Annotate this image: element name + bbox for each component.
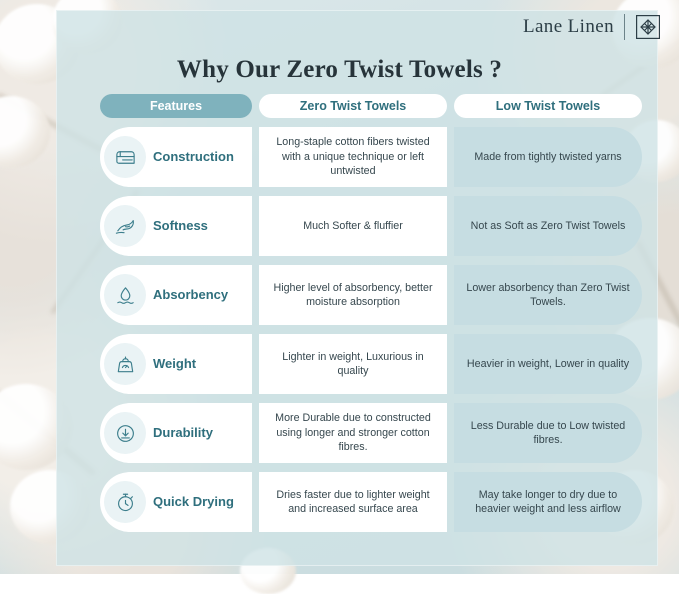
cotton-boll (0, 96, 50, 168)
low-twist-cell: May take longer to dry due to heavier we… (454, 472, 642, 532)
header-zero-twist: Zero Twist Towels (259, 94, 447, 118)
feature-cell: Durability (100, 403, 252, 463)
table-row: Softness Much Softer & fluffier Not as S… (100, 196, 645, 256)
zero-twist-cell: More Durable due to constructed using lo… (259, 403, 447, 463)
stopwatch-drop-icon (104, 481, 146, 523)
feature-label: Construction (153, 150, 234, 165)
low-twist-cell: Less Durable due to Low twisted fibres. (454, 403, 642, 463)
feature-cell: Softness (100, 196, 252, 256)
feature-label: Durability (153, 426, 213, 441)
table-row: Durability More Durable due to construct… (100, 403, 645, 463)
feature-label: Absorbency (153, 288, 228, 303)
zero-twist-cell: Long-staple cotton fibers twisted with a… (259, 127, 447, 187)
feature-cell: Quick Drying (100, 472, 252, 532)
water-drop-absorb-icon (104, 274, 146, 316)
low-twist-cell: Not as Soft as Zero Twist Towels (454, 196, 642, 256)
table-row: Construction Long-staple cotton fibers t… (100, 127, 645, 187)
knot-monogram-icon (635, 14, 661, 40)
feature-label: Softness (153, 219, 208, 234)
zero-twist-cell: Lighter in weight, Luxurious in quality (259, 334, 447, 394)
hand-feather-icon (104, 205, 146, 247)
feature-label: Weight (153, 357, 196, 372)
comparison-table: Features Zero Twist Towels Low Twist Tow… (100, 94, 645, 541)
header-features: Features (100, 94, 252, 118)
brand-divider (624, 14, 625, 40)
low-twist-cell: Made from tightly twisted yarns (454, 127, 642, 187)
table-row: Quick Drying Dries faster due to lighter… (100, 472, 645, 532)
feature-cell: Construction (100, 127, 252, 187)
page-title: Why Our Zero Twist Towels ? (0, 56, 679, 84)
zero-twist-cell: Much Softer & fluffier (259, 196, 447, 256)
brand-name: Lane Linen (523, 16, 614, 38)
folded-towel-icon (104, 136, 146, 178)
low-twist-cell: Heavier in weight, Lower in quality (454, 334, 642, 394)
table-header-row: Features Zero Twist Towels Low Twist Tow… (100, 94, 645, 118)
feature-cell: Absorbency (100, 265, 252, 325)
weighing-scale-icon (104, 343, 146, 385)
table-row: Weight Lighter in weight, Luxurious in q… (100, 334, 645, 394)
header-low-twist: Low Twist Towels (454, 94, 642, 118)
table-row: Absorbency Higher level of absorbency, b… (100, 265, 645, 325)
shield-check-durability-icon (104, 412, 146, 454)
feature-cell: Weight (100, 334, 252, 394)
zero-twist-cell: Dries faster due to lighter weight and i… (259, 472, 447, 532)
brand-logo: Lane Linen (523, 14, 661, 40)
zero-twist-cell: Higher level of absorbency, better moist… (259, 265, 447, 325)
low-twist-cell: Lower absorbency than Zero Twist Towels. (454, 265, 642, 325)
feature-label: Quick Drying (153, 495, 234, 510)
